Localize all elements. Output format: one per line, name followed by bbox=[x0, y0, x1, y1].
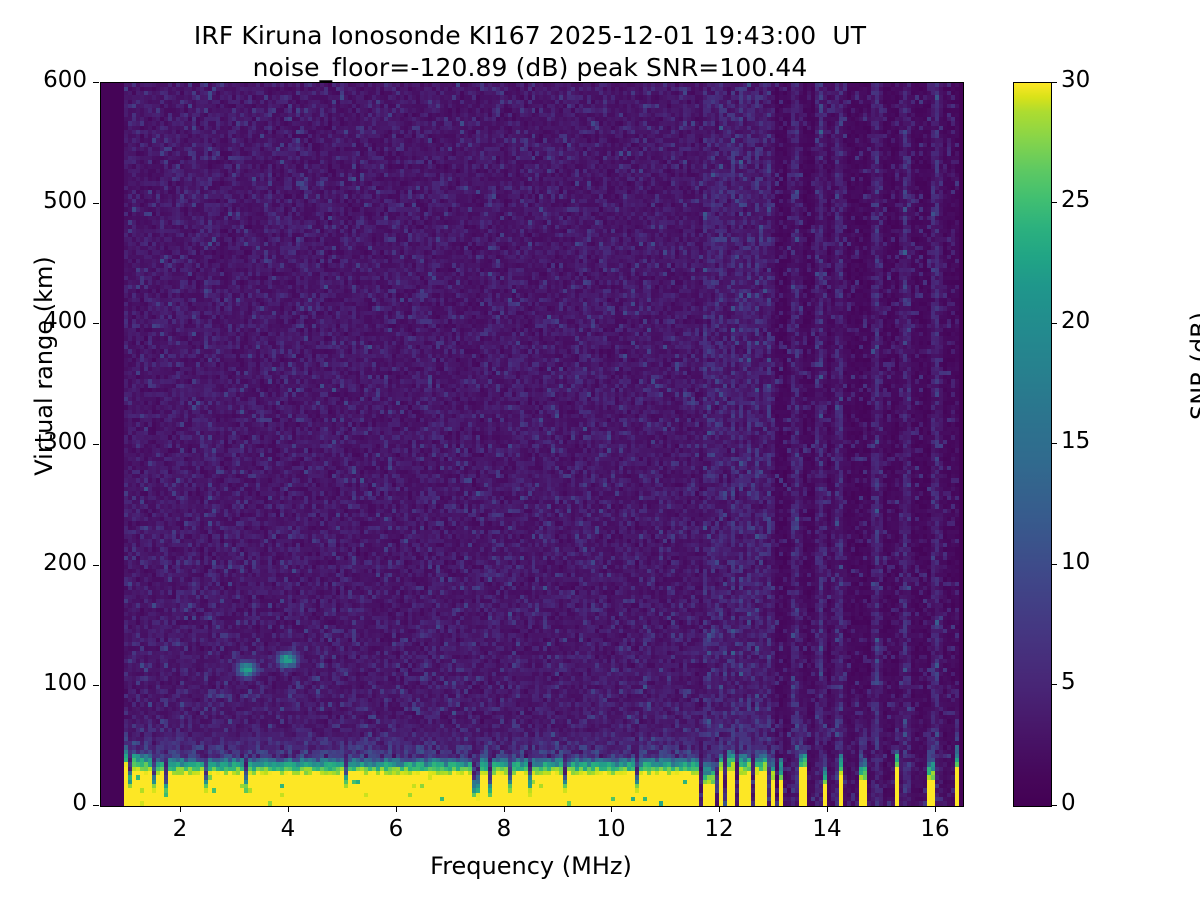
colorbar-tick-mark bbox=[1051, 564, 1057, 565]
colorbar-tick-mark bbox=[1051, 684, 1057, 685]
x-tick-mark bbox=[935, 806, 936, 812]
x-tick-mark bbox=[719, 806, 720, 812]
y-tick-mark bbox=[93, 323, 99, 324]
title-line-1: IRF Kiruna Ionosonde KI167 2025-12-01 19… bbox=[0, 20, 1060, 52]
colorbar-tick-label: 0 bbox=[1061, 790, 1131, 816]
title-line-2: noise_floor=-120.89 (dB) peak SNR=100.44 bbox=[0, 52, 1060, 84]
x-tick-label: 14 bbox=[787, 816, 867, 842]
colorbar-tick-label: 25 bbox=[1061, 187, 1131, 213]
y-tick-mark bbox=[93, 685, 99, 686]
x-tick-label: 8 bbox=[464, 816, 544, 842]
y-tick-mark bbox=[93, 444, 99, 445]
figure-title: IRF Kiruna Ionosonde KI167 2025-12-01 19… bbox=[0, 20, 1060, 84]
y-tick-mark bbox=[93, 565, 99, 566]
x-tick-mark bbox=[827, 806, 828, 812]
x-tick-label: 2 bbox=[140, 816, 220, 842]
x-tick-mark bbox=[611, 806, 612, 812]
y-tick-label: 0 bbox=[7, 790, 87, 816]
y-axis-label: Virtual range (km) bbox=[30, 166, 58, 566]
y-tick-mark bbox=[93, 203, 99, 204]
y-tick-label: 600 bbox=[7, 67, 87, 93]
x-tick-mark bbox=[288, 806, 289, 812]
colorbar-tick-label: 5 bbox=[1061, 669, 1131, 695]
x-tick-label: 16 bbox=[895, 816, 975, 842]
x-tick-label: 12 bbox=[679, 816, 759, 842]
ionogram-plot-area bbox=[100, 82, 964, 807]
colorbar-tick-label: 20 bbox=[1061, 308, 1131, 334]
x-tick-mark bbox=[396, 806, 397, 812]
x-tick-label: 4 bbox=[248, 816, 328, 842]
colorbar-tick-label: 30 bbox=[1061, 67, 1131, 93]
ionogram-heatmap-canvas bbox=[101, 83, 963, 806]
x-tick-mark bbox=[180, 806, 181, 812]
x-tick-mark bbox=[504, 806, 505, 812]
colorbar-tick-label: 15 bbox=[1061, 428, 1131, 454]
y-tick-mark bbox=[93, 82, 99, 83]
x-tick-label: 6 bbox=[356, 816, 436, 842]
colorbar-tick-mark bbox=[1051, 323, 1057, 324]
colorbar-tick-label: 10 bbox=[1061, 549, 1131, 575]
ionogram-figure: IRF Kiruna Ionosonde KI167 2025-12-01 19… bbox=[0, 0, 1200, 900]
x-tick-label: 10 bbox=[571, 816, 651, 842]
colorbar-tick-mark bbox=[1051, 805, 1057, 806]
colorbar-tick-mark bbox=[1051, 82, 1057, 83]
colorbar-label: SNR (dB) bbox=[1186, 166, 1200, 566]
colorbar-tick-mark bbox=[1051, 202, 1057, 203]
snr-colorbar bbox=[1013, 82, 1052, 807]
y-tick-mark bbox=[93, 805, 99, 806]
colorbar-tick-mark bbox=[1051, 443, 1057, 444]
y-tick-label: 100 bbox=[7, 670, 87, 696]
x-axis-label: Frequency (MHz) bbox=[100, 852, 962, 880]
